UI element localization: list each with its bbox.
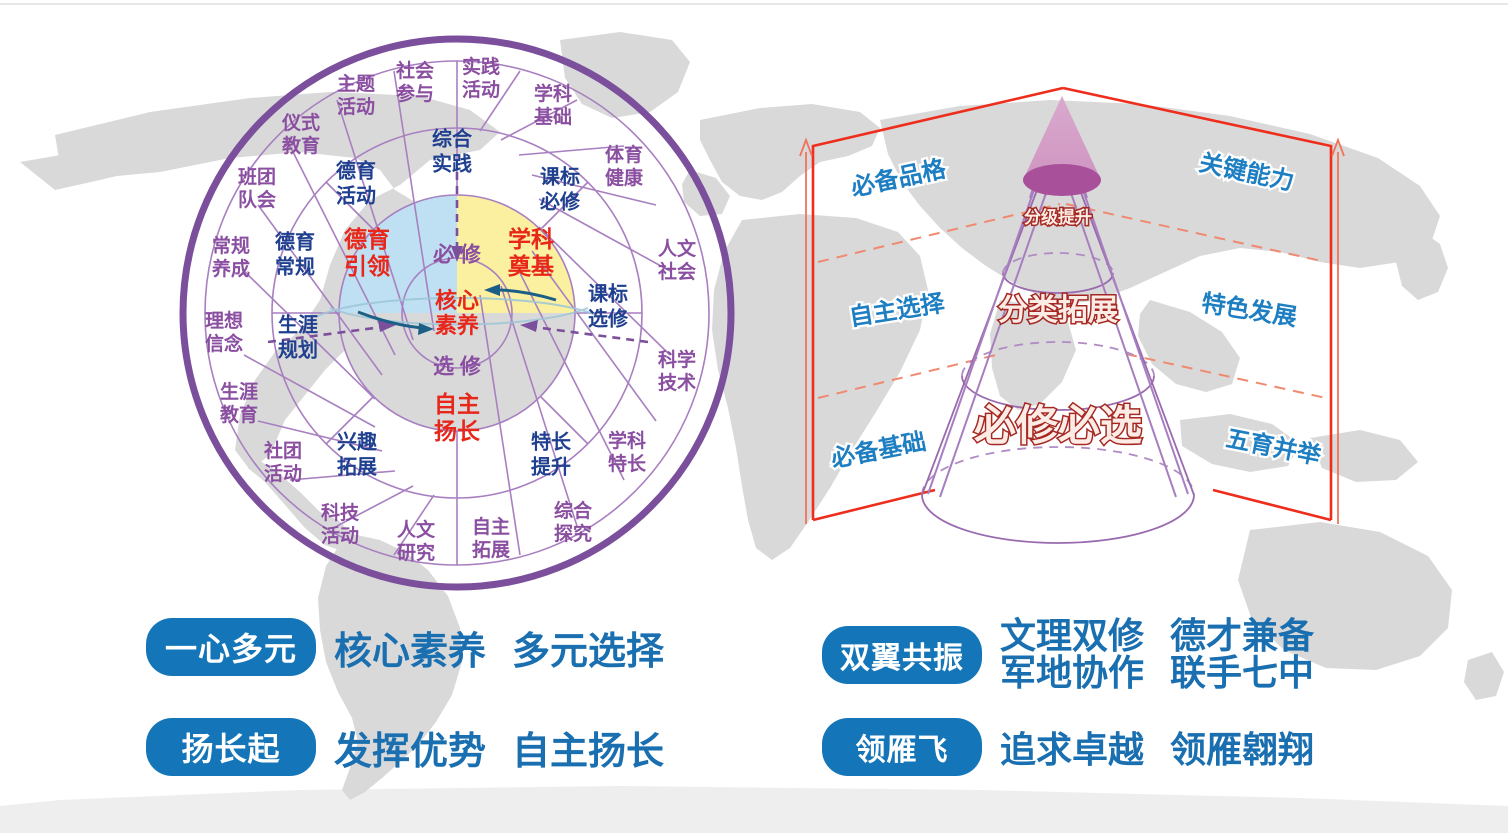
cone-right-label-2: 特色发展 [1200,289,1299,332]
cone-right-labels: 关键能力 特色发展 五育并举 [1197,149,1324,471]
slogan-text-1b: 多元选择 [512,620,664,675]
slogan-text-1a: 核心素养 [334,620,486,675]
cone-right-label-3: 关键能力 [1197,149,1297,196]
cone-left-label-3: 必备品格 [848,154,949,202]
slogan-row-1: 一心多元 核心素养 多元选择 [146,618,664,676]
slogan-text-3c: 军地协作 [1000,655,1144,692]
slogan-badge-3[interactable]: 双翼共振 [822,626,982,684]
cone-right-label-1: 五育并举 [1224,424,1325,470]
slogan-text-2a: 发挥优势 [334,720,486,775]
cone-tier-2-label: 分类拓展 [998,294,1118,327]
slogan-row-4: 领雁飞 追求卓越 领雁翱翔 [822,718,1314,776]
infographic-canvas: .ring-line{stroke:#a87fc0;stroke-width:1… [0,0,1508,833]
cone-group: 分级提升 分类拓展 必修必选 必备品格 自主选择 必备基础 关键能力 特色发展 … [800,88,1344,543]
cone-left-label-2: 自主选择 [847,289,947,332]
slogan-text-3d: 联手七中 [1170,655,1314,692]
slogan-badge-1[interactable]: 一心多元 [146,618,316,676]
slogan-text-4a: 追求卓越 [1000,721,1144,773]
slogan-text-3a: 文理双修 [1000,618,1144,655]
slogan-row-2: 扬长起 发挥优势 自主扬长 [146,718,664,776]
cone-tip [1023,96,1101,196]
slogan-row-3: 双翼共振 文理双修 德才兼备 军地协作 联手七中 [822,618,1314,691]
cone-left-label-1: 必备基础 [829,427,929,473]
slogan-text-4b: 领雁翱翔 [1170,721,1314,773]
slogan-text-2b: 自主扬长 [512,720,664,775]
cone-body [922,182,1194,543]
cone-left-labels: 必备品格 自主选择 必备基础 [829,154,949,473]
cone-tier-3-label: 分级提升 [1024,207,1092,227]
slogan-badge-2[interactable]: 扬长起 [146,718,316,776]
slogan-text-3b: 德才兼备 [1170,618,1314,655]
cone-tier-1-label: 必修必选 [974,402,1142,449]
slogan-badge-4[interactable]: 领雁飞 [822,718,982,776]
slogan-section: 一心多元 核心素养 多元选择 扬长起 发挥优势 自主扬长 双翼共振 文理双修 德… [0,600,1508,833]
